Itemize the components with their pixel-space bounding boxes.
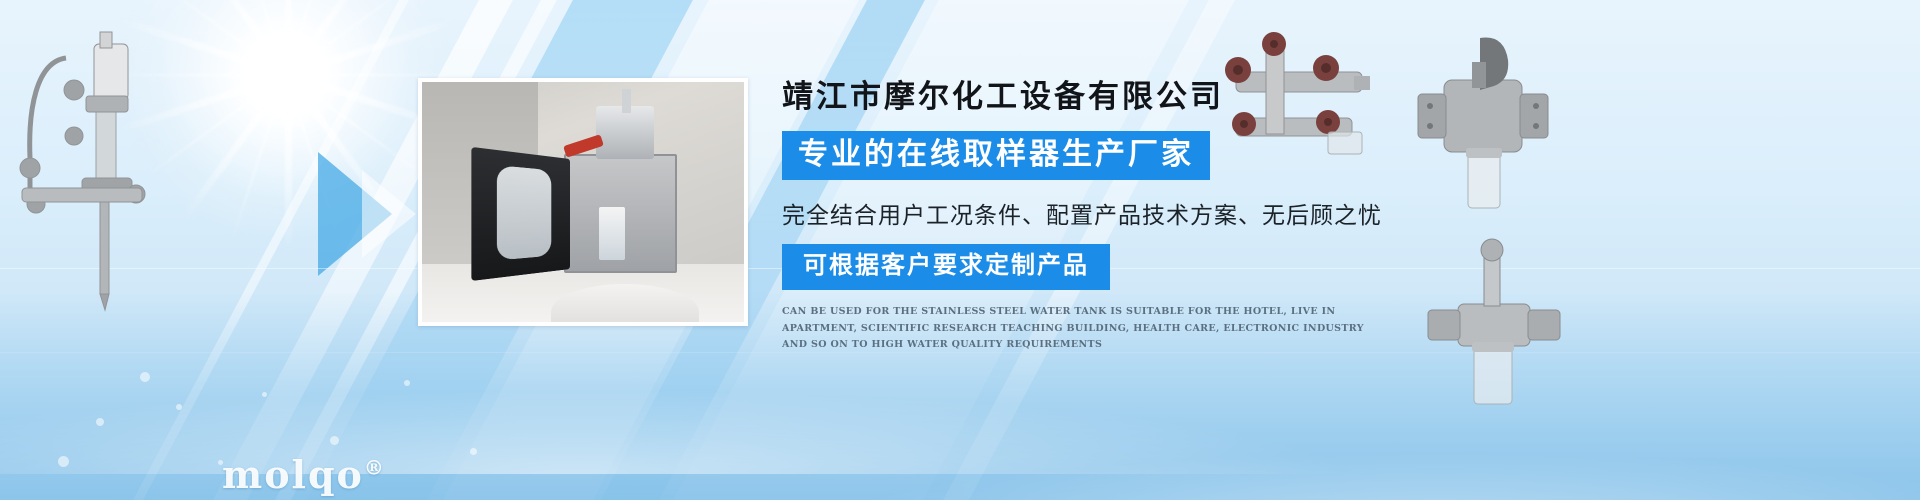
custom-product-badge: 可根据客户要求定制产品: [782, 244, 1110, 290]
chevron-accent-icon: [362, 170, 416, 258]
right-equipment-bottom-illustration: [1416, 238, 1576, 418]
promo-banner: 靖江市摩尔化工设备有限公司 专业的在线取样器生产厂家 完全结合用户工况条件、配置…: [0, 0, 1920, 500]
tagline-badge: 专业的在线取样器生产厂家: [782, 131, 1210, 180]
company-name: 靖江市摩尔化工设备有限公司: [782, 78, 1402, 117]
right-equipment-mid-illustration: [1414, 28, 1556, 248]
english-caption: CAN BE USED FOR THE STAINLESS STEEL WATE…: [782, 304, 1382, 354]
sub-headline: 完全结合用户工况条件、配置产品技术方案、无后顾之忧: [782, 196, 1402, 230]
left-equipment-illustration: [8, 18, 188, 318]
product-photo: [418, 78, 748, 326]
registered-mark-icon: ®: [364, 455, 386, 479]
headline-block: 靖江市摩尔化工设备有限公司 专业的在线取样器生产厂家 完全结合用户工况条件、配置…: [782, 78, 1402, 354]
watermark-text: molqo: [222, 452, 364, 497]
brand-watermark: molqo®: [222, 452, 386, 497]
